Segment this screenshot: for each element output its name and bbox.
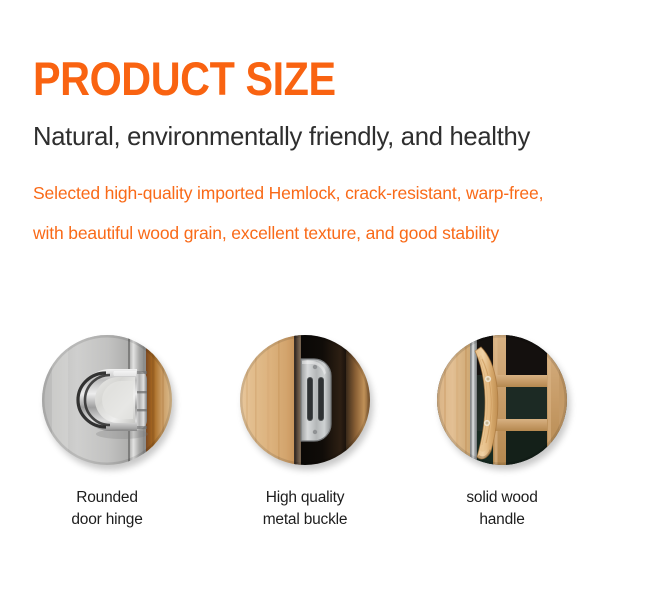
feature-caption-3-line-1: solid wood [412,487,592,509]
thumb-wrap-1 [42,335,172,465]
feature-caption-2-line-2: metal buckle [215,509,395,531]
feature-caption-1: Rounded door hinge [17,487,197,531]
feature-caption-2-line-1: High quality [215,487,395,509]
feature-row: Rounded door hinge [0,320,647,550]
product-size-banner: PRODUCT SIZE Natural, environmentally fr… [0,0,647,603]
page-title: PRODUCT SIZE [33,55,570,102]
feature-item-rounded-door-hinge: Rounded door hinge [17,320,197,531]
feature-item-metal-buckle: High quality metal buckle [215,320,395,531]
description-text: Selected high-quality imported Hemlock, … [33,173,643,253]
feature-caption-3-line-2: handle [412,509,592,531]
rounded-door-hinge-photo [42,335,172,465]
feature-item-wood-handle: solid wood handle [412,320,592,531]
description-line-2: with beautiful wood grain, excellent tex… [33,213,643,253]
page-subtitle: Natural, environmentally friendly, and h… [33,121,634,151]
solid-wood-handle-photo [437,335,567,465]
description-line-1: Selected high-quality imported Hemlock, … [33,173,643,213]
header-block: PRODUCT SIZE Natural, environmentally fr… [33,55,643,253]
feature-caption-1-line-1: Rounded [17,487,197,509]
high-quality-metal-buckle-photo [240,335,370,465]
thumb-wrap-2 [240,335,370,465]
feature-caption-2: High quality metal buckle [215,487,395,531]
feature-caption-1-line-2: door hinge [17,509,197,531]
thumb-wrap-3 [437,335,567,465]
feature-caption-3: solid wood handle [412,487,592,531]
